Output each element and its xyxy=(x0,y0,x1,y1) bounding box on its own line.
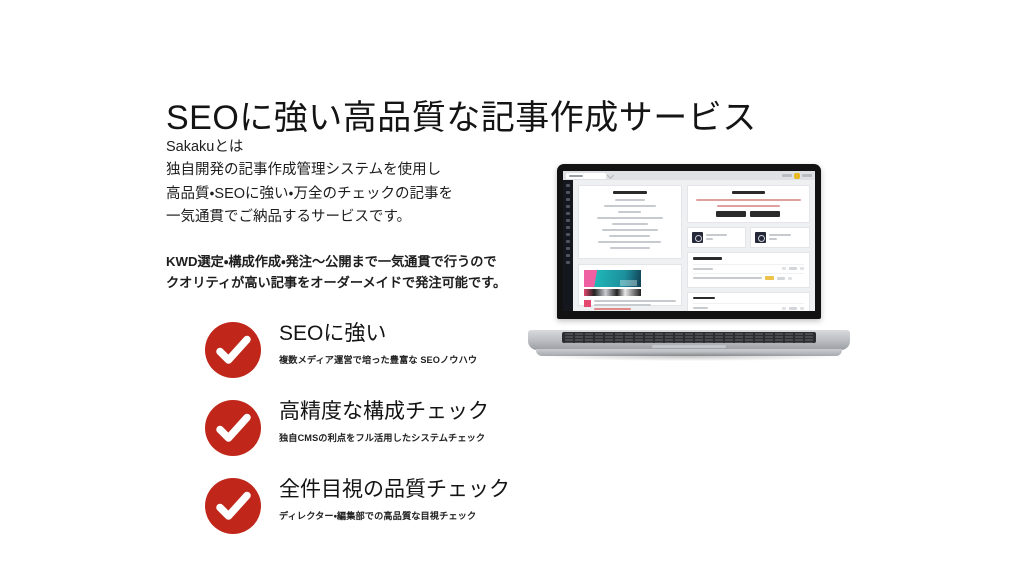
article-thumbnail-image xyxy=(584,270,641,287)
feature-description: 独自CMSの利点をフル活用したシステムチェック xyxy=(279,430,489,444)
sidebar-icon xyxy=(566,191,570,194)
article-list-card xyxy=(687,292,810,312)
lead-line-3: 高品質・SEOに強い・万全のチェックの記事を xyxy=(166,183,453,206)
toolbar-icon xyxy=(802,174,812,177)
text-line xyxy=(706,234,727,236)
notice-card xyxy=(578,185,682,259)
text-line xyxy=(610,247,649,249)
text-line xyxy=(609,235,650,237)
card-button-row xyxy=(694,211,803,217)
status-badge xyxy=(800,267,804,270)
dashboard-content xyxy=(573,180,815,311)
sidebar-icon xyxy=(566,219,570,222)
toolbar-icon xyxy=(782,174,792,177)
sidebar-icon xyxy=(566,198,570,201)
check-circle-icon xyxy=(205,400,261,456)
text-line xyxy=(604,205,656,207)
sidebar-icon xyxy=(566,261,570,264)
pencil-icon xyxy=(692,232,703,243)
feature-title: 全件目視の品質チェック xyxy=(279,478,510,503)
warning-text-line xyxy=(696,199,801,201)
laptop-base xyxy=(528,330,850,350)
list-row[interactable] xyxy=(693,264,804,273)
text-line xyxy=(602,229,658,231)
key-row xyxy=(565,336,813,338)
slide-canvas: SEOに強い高品質な記事作成サービス Sakakuとは 独自開発の記事作成管理シ… xyxy=(0,0,1024,576)
lead-line-1: Sakakuとは xyxy=(166,136,453,159)
feature-description: ディレクター・編集部での高品質な目視チェック xyxy=(279,508,510,522)
key-row xyxy=(565,333,813,335)
page-title: SEOに強い高品質な記事作成サービス xyxy=(166,90,757,139)
status-badge xyxy=(788,277,792,280)
laptop-keyboard xyxy=(562,332,816,343)
list-heading xyxy=(693,297,715,300)
laptop-shadow xyxy=(542,352,836,361)
new-tab-icon xyxy=(607,172,614,179)
primary-button[interactable] xyxy=(716,211,746,217)
feature-text: 全件目視の品質チェック ディレクター・編集部での高品質な目視チェック xyxy=(279,476,510,522)
status-badge xyxy=(777,277,785,280)
browser-tab xyxy=(566,173,606,179)
status-badge xyxy=(782,307,786,310)
sub-lead-line-2: クオリティが高い記事をオーダーメイドで発注可能です。 xyxy=(166,272,506,293)
status-badge xyxy=(765,276,774,280)
article-thumbnail-strip xyxy=(584,289,641,296)
article-preview-card xyxy=(578,264,682,306)
laptop-mockup-image xyxy=(528,164,850,364)
stat-label xyxy=(769,234,805,242)
check-circle-icon xyxy=(205,322,261,378)
text-line xyxy=(769,238,777,240)
secondary-button[interactable] xyxy=(750,211,780,217)
text-line xyxy=(612,223,648,225)
sidebar-icon xyxy=(566,212,570,215)
dashboard-right-column xyxy=(687,185,810,306)
feature-title: 高精度な構成チェック xyxy=(279,400,489,425)
sub-lead-line-1: KWD選定・構成作成・発注〜公開まで一気通貫で行うので xyxy=(166,251,506,272)
card-heading xyxy=(732,191,765,194)
list-row[interactable] xyxy=(693,303,804,311)
feature-item-quality-check: 全件目視の品質チェック ディレクター・編集部での高品質な目視チェック xyxy=(205,476,565,542)
row-label xyxy=(693,277,762,279)
sidebar-icon xyxy=(566,254,570,257)
list-heading xyxy=(693,257,722,260)
row-label xyxy=(693,307,709,309)
laptop-screen xyxy=(563,171,815,311)
text-line xyxy=(598,241,661,243)
login-notice-card xyxy=(687,185,810,223)
text-line xyxy=(597,217,663,219)
list-row[interactable] xyxy=(693,273,804,283)
stat-card[interactable] xyxy=(750,227,810,248)
avatar xyxy=(584,300,591,307)
text-line xyxy=(618,211,641,213)
sidebar-icon xyxy=(566,226,570,229)
cms-dashboard xyxy=(563,180,815,311)
sidebar-icon xyxy=(566,184,570,187)
key-row xyxy=(565,339,813,341)
feature-description: 複数メディア運営で培った豊富な SEOノウハウ xyxy=(279,352,477,366)
task-list-card xyxy=(687,252,810,288)
key-row xyxy=(565,342,813,343)
text-line xyxy=(594,300,676,302)
article-meta xyxy=(584,300,676,311)
feature-text: 高精度な構成チェック 独自CMSの利点をフル活用したシステムチェック xyxy=(279,398,489,444)
lead-line-2: 独自開発の記事作成管理システムを使用し xyxy=(166,159,453,182)
text-line xyxy=(706,238,714,240)
status-badge xyxy=(800,307,804,310)
dashboard-left-column xyxy=(578,185,682,306)
browser-toolbar-right xyxy=(782,173,812,179)
status-badge xyxy=(789,267,797,270)
feature-item-structure-check: 高精度な構成チェック 独自CMSの利点をフル活用したシステムチェック xyxy=(205,398,565,464)
text-line xyxy=(594,304,651,306)
status-badge xyxy=(782,267,786,270)
feature-text: SEOに強い 複数メディア運営で培った豊富な SEOノウハウ xyxy=(279,320,477,366)
text-line xyxy=(594,308,631,310)
feature-item-seo: SEOに強い 複数メディア運営で培った豊富な SEOノウハウ xyxy=(205,320,565,386)
pencil-icon xyxy=(755,232,766,243)
text-line xyxy=(615,199,645,201)
feature-title: SEOに強い xyxy=(279,322,477,347)
text-line xyxy=(769,234,790,236)
laptop-trackpad xyxy=(652,345,726,348)
row-label xyxy=(693,268,713,270)
check-circle-icon xyxy=(205,478,261,534)
sidebar-icon xyxy=(566,247,570,250)
browser-tab-bar xyxy=(563,171,815,180)
stat-card-row xyxy=(687,227,810,248)
stat-label xyxy=(706,234,742,242)
stat-card[interactable] xyxy=(687,227,747,248)
laptop-lid xyxy=(557,164,821,319)
dashboard-sidebar xyxy=(563,180,573,311)
lead-line-4: 一気通貫でご納品するサービスです。 xyxy=(166,206,453,229)
sidebar-icon xyxy=(566,240,570,243)
avatar xyxy=(794,173,800,179)
article-meta-lines xyxy=(594,300,676,311)
feature-list: SEOに強い 複数メディア運営で培った豊富な SEOノウハウ 高精度な構成チェッ… xyxy=(205,320,565,542)
lead-paragraph: Sakakuとは 独自開発の記事作成管理システムを使用し 高品質・SEOに強い・… xyxy=(166,136,453,230)
warning-text-line xyxy=(717,205,780,207)
sub-lead-paragraph: KWD選定・構成作成・発注〜公開まで一気通貫で行うので クオリティが高い記事をオ… xyxy=(166,251,506,294)
sidebar-icon xyxy=(566,233,570,236)
card-heading xyxy=(613,191,647,194)
status-badge xyxy=(789,307,797,310)
sidebar-icon xyxy=(566,205,570,208)
